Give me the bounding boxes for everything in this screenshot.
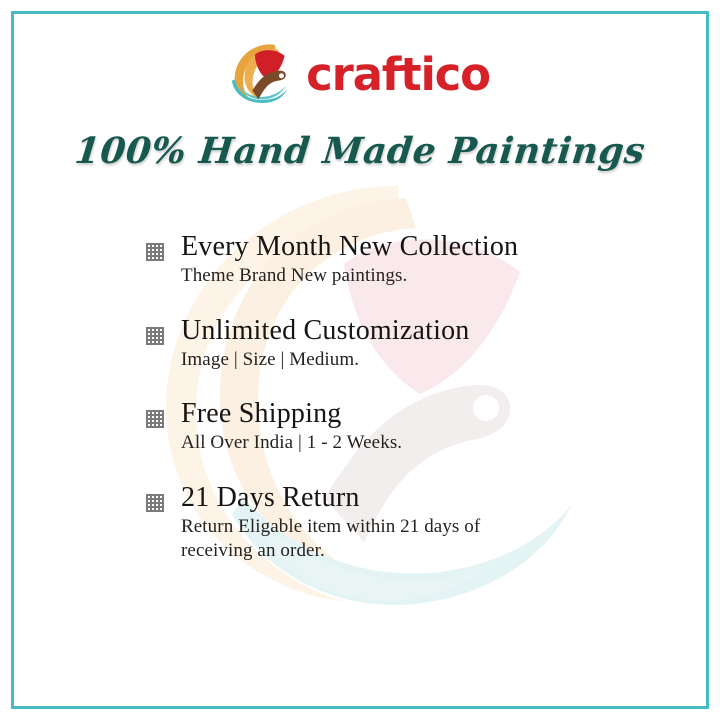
woven-grid-square-icon	[146, 243, 164, 261]
woven-grid-square-icon	[146, 327, 164, 345]
feature-subtitle: Return Eligable item within 21 days of r…	[181, 515, 536, 564]
list-item: Unlimited Customization Image | Size | M…	[146, 316, 666, 373]
feature-text: Free Shipping All Over India | 1 - 2 Wee…	[181, 399, 666, 456]
feature-subtitle: Theme Brand New paintings.	[181, 264, 666, 288]
feature-title: Free Shipping	[181, 399, 666, 429]
feature-title: Unlimited Customization	[181, 316, 666, 346]
feature-title: 21 Days Return	[181, 483, 666, 513]
brand-wordmark: craftico	[306, 52, 490, 97]
woven-grid-square-icon	[146, 410, 164, 428]
list-item: Free Shipping All Over India | 1 - 2 Wee…	[146, 399, 666, 456]
feature-text: Every Month New Collection Theme Brand N…	[181, 232, 666, 289]
feature-text: 21 Days Return Return Eligable item with…	[181, 483, 666, 564]
feature-subtitle: All Over India | 1 - 2 Weeks.	[181, 431, 666, 455]
page-title: 100% Hand Made Paintings	[0, 130, 720, 172]
feature-subtitle: Image | Size | Medium.	[181, 348, 666, 372]
promo-banner: craftico 100% Hand Made Paintings	[0, 0, 720, 720]
feature-title: Every Month New Collection	[181, 232, 666, 262]
craftico-logo-icon	[230, 41, 292, 103]
brand-logo: craftico	[0, 36, 720, 108]
woven-grid-square-icon	[146, 494, 164, 512]
list-item: 21 Days Return Return Eligable item with…	[146, 483, 666, 564]
feature-list: Every Month New Collection Theme Brand N…	[146, 232, 666, 591]
feature-text: Unlimited Customization Image | Size | M…	[181, 316, 666, 373]
list-item: Every Month New Collection Theme Brand N…	[146, 232, 666, 289]
